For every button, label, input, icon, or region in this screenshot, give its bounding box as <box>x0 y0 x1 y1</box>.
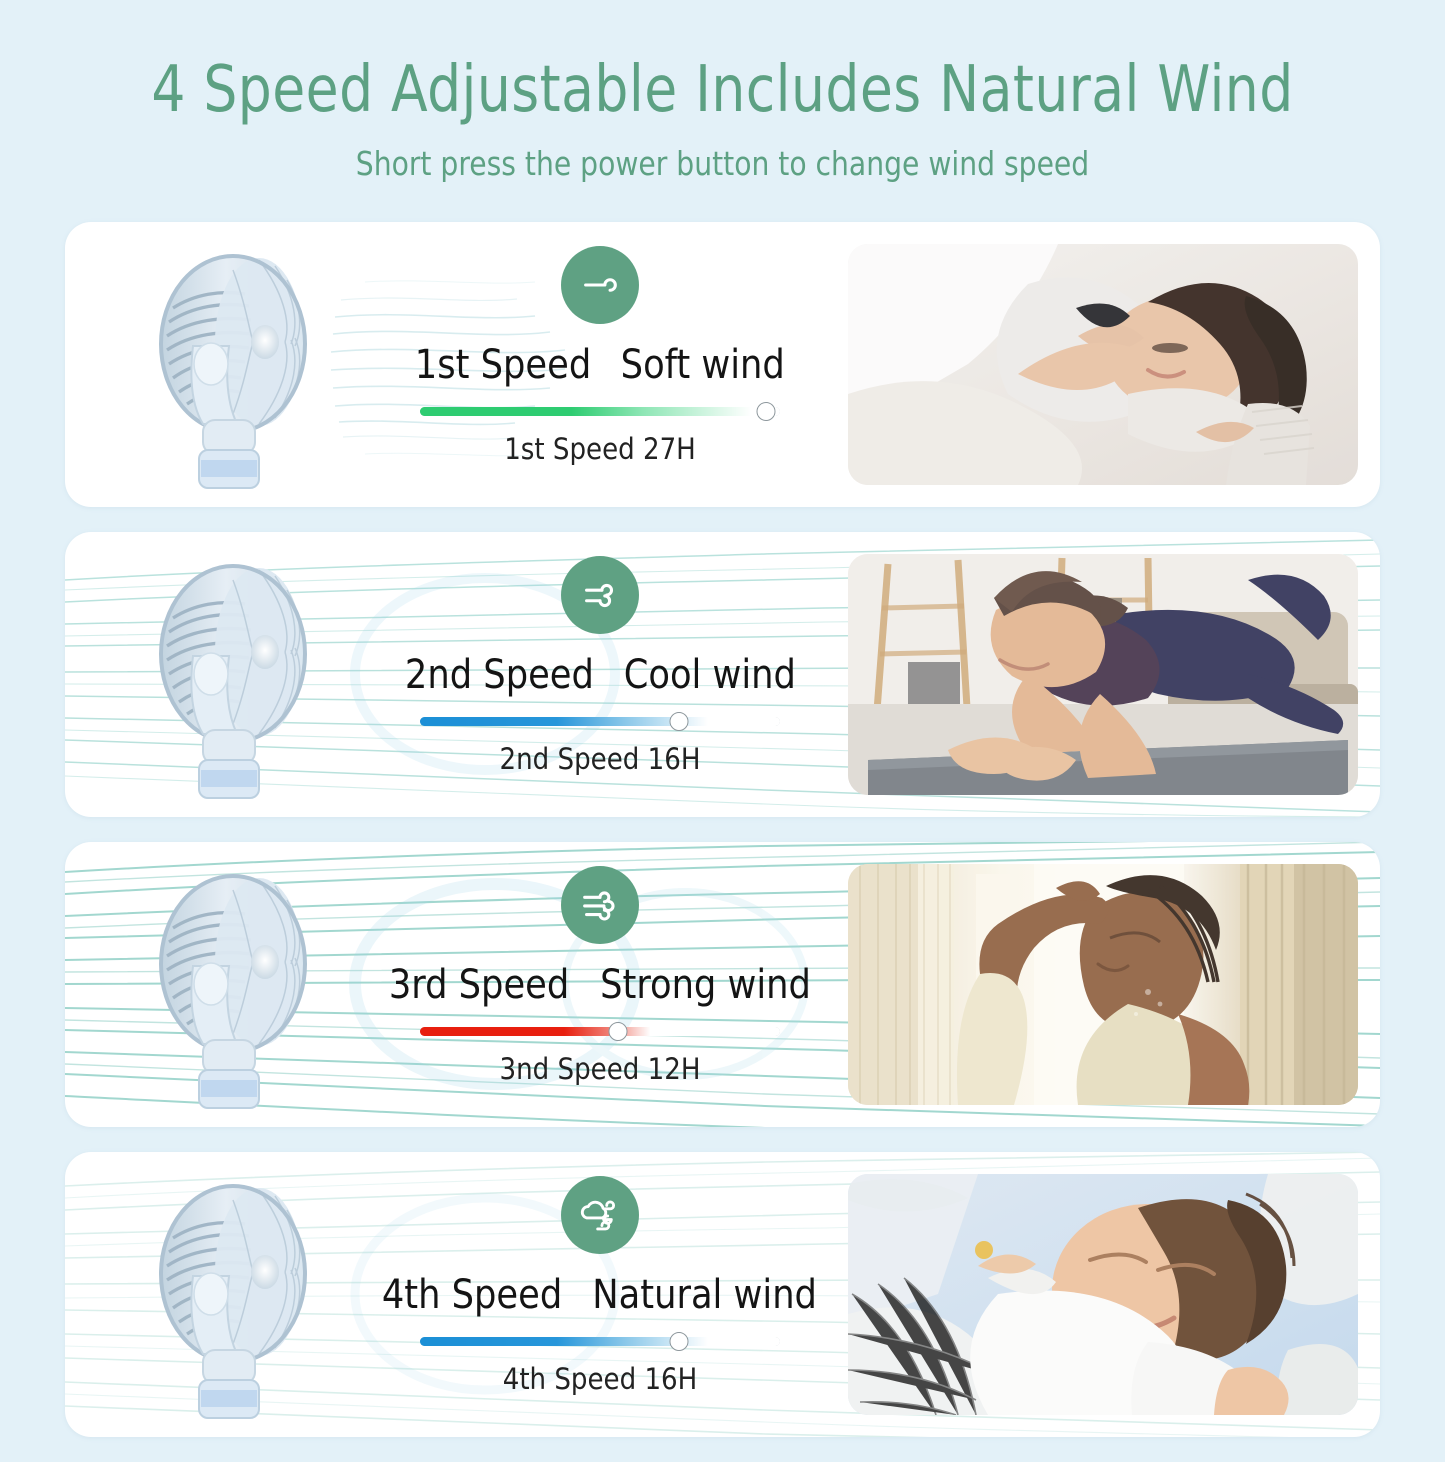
speed-row-2: 2nd Speed Cool wind 2nd Speed 16H <box>65 532 1380 817</box>
speed-level-label: 3rd Speed <box>389 962 569 1008</box>
header: 4 Speed Adjustable Includes Natural Wind… <box>0 0 1445 183</box>
woman-doing-plank-exercise-photo <box>848 554 1358 795</box>
speed-info-1: 1st Speed Soft wind 1st Speed 27H <box>365 240 835 490</box>
slider-fill <box>420 717 780 726</box>
wind-three-lines-icon <box>561 866 639 944</box>
slider-knob[interactable] <box>756 402 775 421</box>
slider-knob[interactable] <box>670 712 689 731</box>
slider-fill <box>420 407 780 416</box>
speed-labels-4: 4th Speed Natural wind <box>380 1272 819 1318</box>
speed-level-label: 1st Speed <box>415 342 591 388</box>
wind-type-label: Natural wind <box>593 1272 818 1318</box>
speed-rows: 1st Speed Soft wind 1st Speed 27H <box>65 222 1380 1462</box>
slider-knob[interactable] <box>670 1332 689 1351</box>
page-title: 4 Speed Adjustable Includes Natural Wind <box>51 58 1395 122</box>
slider-fill <box>420 1337 780 1346</box>
page-subtitle: Short press the power button to change w… <box>36 144 1409 183</box>
slider-fill <box>420 1027 780 1036</box>
infographic-page: 4 Speed Adjustable Includes Natural Wind… <box>0 0 1445 1445</box>
speed-info-3: 3rd Speed Strong wind 3nd Speed 12H <box>365 860 835 1110</box>
woman-wiping-sweat-photo <box>848 864 1358 1105</box>
fan-illustration-4 <box>125 1166 335 1431</box>
speed-runtime-caption: 1st Speed 27H <box>504 432 696 466</box>
speed-slider-2[interactable] <box>420 714 780 728</box>
wind-type-label: Soft wind <box>621 342 785 388</box>
sleeping-baby-photo <box>848 1174 1358 1415</box>
wind-type-label: Strong wind <box>600 962 811 1008</box>
speed-level-label: 2nd Speed <box>405 652 594 698</box>
fan-illustration-2 <box>125 546 335 811</box>
speed-labels-1: 1st Speed Soft wind <box>413 342 786 388</box>
speed-slider-4[interactable] <box>420 1334 780 1348</box>
wind-two-lines-icon <box>561 556 639 634</box>
speed-info-2: 2nd Speed Cool wind 2nd Speed 16H <box>365 550 835 800</box>
speed-labels-2: 2nd Speed Cool wind <box>403 652 798 698</box>
speed-labels-3: 3rd Speed Strong wind <box>387 962 812 1008</box>
cloud-wind-icon <box>561 1176 639 1254</box>
fan-illustration-1 <box>125 236 335 501</box>
speed-level-label: 4th Speed <box>382 1272 562 1318</box>
speed-runtime-caption: 4th Speed 16H <box>503 1362 698 1396</box>
slider-knob[interactable] <box>609 1022 628 1041</box>
speed-runtime-caption: 3nd Speed 12H <box>500 1052 701 1086</box>
speed-slider-3[interactable] <box>420 1024 780 1038</box>
speed-row-1: 1st Speed Soft wind 1st Speed 27H <box>65 222 1380 507</box>
wind-single-line-icon <box>561 246 639 324</box>
speed-runtime-caption: 2nd Speed 16H <box>500 742 701 776</box>
fan-illustration-3 <box>125 856 335 1121</box>
wind-type-label: Cool wind <box>623 652 795 698</box>
speed-info-4: 4th Speed Natural wind 4th Speed 16H <box>365 1170 835 1420</box>
speed-slider-1[interactable] <box>420 404 780 418</box>
woman-sleeping-in-bed-photo <box>848 244 1358 485</box>
speed-row-4: 4th Speed Natural wind 4th Speed 16H <box>65 1152 1380 1437</box>
speed-row-3: 3rd Speed Strong wind 3nd Speed 12H <box>65 842 1380 1127</box>
